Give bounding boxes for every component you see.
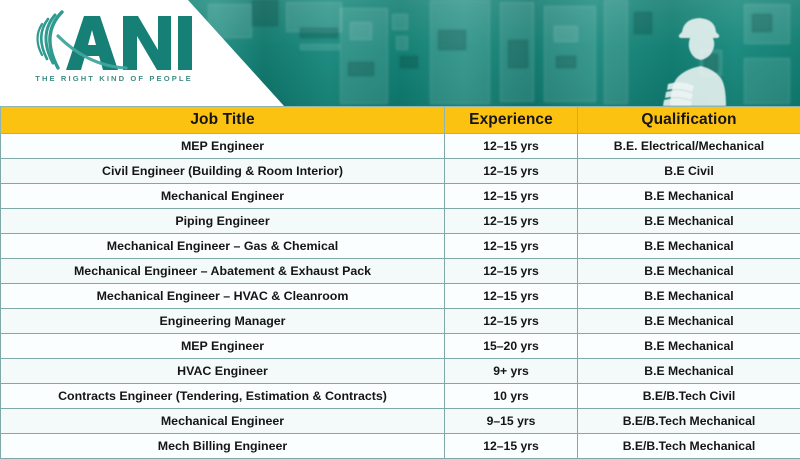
table-row: Mechanical Engineer 12–15 yrs B.E Mechan… [1,184,800,209]
cell-job-title: Mech Billing Engineer [1,434,445,459]
cell-qualification: B.E. Electrical/Mechanical [578,134,800,159]
table-row: Contracts Engineer (Tendering, Estimatio… [1,384,800,409]
cell-experience: 9–15 yrs [445,409,578,434]
hardhat-worker-silhouette-icon [652,10,748,106]
column-header-experience: Experience [445,107,578,134]
cell-qualification: B.E/B.Tech Mechanical [578,409,800,434]
cell-experience: 12–15 yrs [445,309,578,334]
cell-job-title: Mechanical Engineer – Gas & Chemical [1,234,445,259]
column-header-job-title: Job Title [1,107,445,134]
ani-logo: THE RIGHT KIND OF PEOPLE [22,8,198,98]
table-row: Mech Billing Engineer 12–15 yrs B.E/B.Te… [1,434,800,459]
cell-qualification: B.E Mechanical [578,234,800,259]
cell-experience: 9+ yrs [445,359,578,384]
cell-qualification: B.E Mechanical [578,334,800,359]
cell-job-title: Mechanical Engineer – HVAC & Cleanroom [1,284,445,309]
cell-experience: 15–20 yrs [445,334,578,359]
cell-experience: 12–15 yrs [445,184,578,209]
cell-qualification: B.E Mechanical [578,184,800,209]
job-openings-table: Job Title Experience Qualification MEP E… [0,106,800,459]
cell-job-title: Civil Engineer (Building & Room Interior… [1,159,445,184]
cell-job-title: MEP Engineer [1,334,445,359]
cell-job-title: Mechanical Engineer – Abatement & Exhaus… [1,259,445,284]
table-row: MEP Engineer 12–15 yrs B.E. Electrical/M… [1,134,800,159]
table-row: MEP Engineer 15–20 yrs B.E Mechanical [1,334,800,359]
cell-qualification: B.E Mechanical [578,259,800,284]
table-row: Mechanical Engineer – HVAC & Cleanroom 1… [1,284,800,309]
table-row: Piping Engineer 12–15 yrs B.E Mechanical [1,209,800,234]
table-header-row: Job Title Experience Qualification [1,107,800,134]
logo-tagline: THE RIGHT KIND OF PEOPLE [28,74,200,83]
cell-experience: 12–15 yrs [445,234,578,259]
cell-experience: 12–15 yrs [445,134,578,159]
cell-qualification: B.E/B.Tech Mechanical [578,434,800,459]
cell-experience: 12–15 yrs [445,259,578,284]
signal-arcs-icon [22,8,198,74]
job-table-container: Job Title Experience Qualification MEP E… [0,106,800,459]
table-row: Engineering Manager 12–15 yrs B.E Mechan… [1,309,800,334]
cell-qualification: B.E Civil [578,159,800,184]
cell-qualification: B.E Mechanical [578,209,800,234]
cell-job-title: Mechanical Engineer [1,184,445,209]
cell-qualification: B.E Mechanical [578,309,800,334]
cell-experience: 12–15 yrs [445,284,578,309]
cell-qualification: B.E Mechanical [578,284,800,309]
cell-experience: 12–15 yrs [445,159,578,184]
cell-experience: 12–15 yrs [445,209,578,234]
table-row: Mechanical Engineer – Gas & Chemical 12–… [1,234,800,259]
cell-qualification: B.E Mechanical [578,359,800,384]
table-row: Mechanical Engineer 9–15 yrs B.E/B.Tech … [1,409,800,434]
cell-job-title: MEP Engineer [1,134,445,159]
cell-qualification: B.E/B.Tech Civil [578,384,800,409]
cell-job-title: Mechanical Engineer [1,409,445,434]
cell-job-title: HVAC Engineer [1,359,445,384]
cell-job-title: Contracts Engineer (Tendering, Estimatio… [1,384,445,409]
cell-experience: 10 yrs [445,384,578,409]
job-openings-poster: THE RIGHT KIND OF PEOPLE Job Title Exper… [0,0,800,451]
cell-experience: 12–15 yrs [445,434,578,459]
column-header-qualification: Qualification [578,107,800,134]
cell-job-title: Piping Engineer [1,209,445,234]
table-row: Mechanical Engineer – Abatement & Exhaus… [1,259,800,284]
table-row: HVAC Engineer 9+ yrs B.E Mechanical [1,359,800,384]
table-row: Civil Engineer (Building & Room Interior… [1,159,800,184]
header-banner: THE RIGHT KIND OF PEOPLE [0,0,800,106]
cell-job-title: Engineering Manager [1,309,445,334]
